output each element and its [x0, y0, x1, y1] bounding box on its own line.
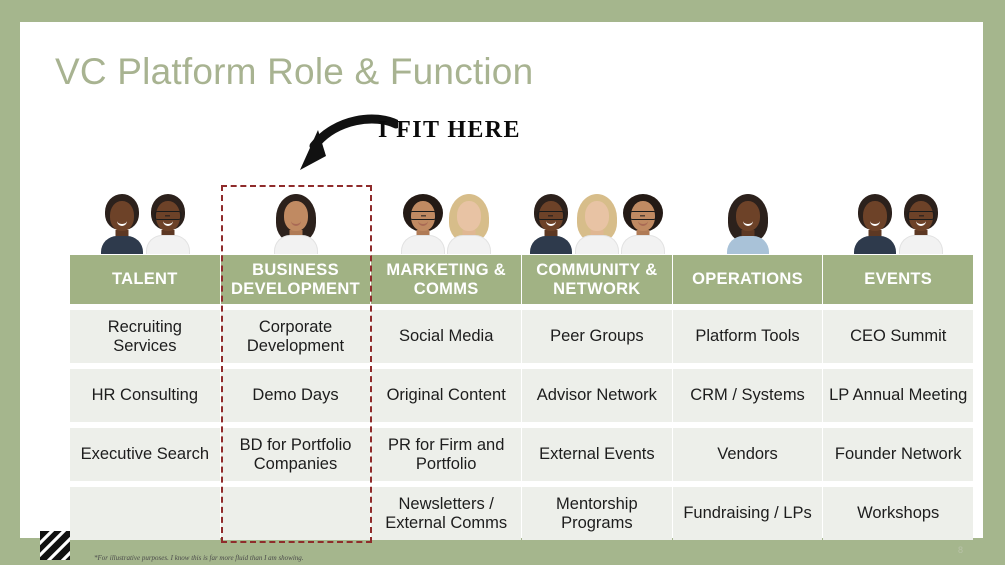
callout-label: I FIT HERE: [378, 117, 521, 144]
table-cell: PR for Firm and Portfolio: [371, 428, 521, 481]
column-header-marketing-comms: MARKETING & COMMS: [371, 255, 521, 304]
avatar-group-marketing-comms: [371, 184, 521, 254]
avatar: [447, 192, 491, 254]
table-cell: CRM / Systems: [673, 369, 823, 422]
avatar: [146, 192, 190, 254]
column-header-operations: OPERATIONS: [673, 255, 823, 304]
avatar: [853, 192, 897, 254]
avatar-group-talent: [70, 184, 220, 254]
table-row: HR Consulting Demo Days Original Content…: [70, 369, 974, 422]
column-header-talent: TALENT: [70, 255, 220, 304]
table-cell: Vendors: [673, 428, 823, 481]
table-cell: Advisor Network: [522, 369, 672, 422]
diagonal-stripes-logo-icon: [40, 531, 70, 560]
table-cell: External Events: [522, 428, 672, 481]
table-cell: LP Annual Meeting: [823, 369, 973, 422]
avatar-group-business-development: [221, 184, 371, 254]
table-cell: Peer Groups: [522, 310, 672, 363]
table-cell: Workshops: [823, 487, 973, 540]
table-cell: [70, 487, 220, 540]
table-cell: Social Media: [371, 310, 521, 363]
avatar: [726, 192, 770, 254]
column-header-community-network: COMMUNITY & NETWORK: [522, 255, 672, 304]
avatar: [621, 192, 665, 254]
table-cell: Mentorship Programs: [522, 487, 672, 540]
avatar: [100, 192, 144, 254]
table-row: Executive Search BD for Portfolio Compan…: [70, 428, 974, 481]
table-cell: HR Consulting: [70, 369, 220, 422]
table-cell: BD for Portfolio Companies: [221, 428, 371, 481]
table-row: Recruiting Services Corporate Developmen…: [70, 310, 974, 363]
page-number: 8: [958, 545, 963, 555]
table-row: Newsletters / External Comms Mentorship …: [70, 487, 974, 540]
avatar: [529, 192, 573, 254]
table-cell: Executive Search: [70, 428, 220, 481]
slide-content-area: VC Platform Role & Function I FIT HERE: [20, 22, 983, 538]
table-cell: Demo Days: [221, 369, 371, 422]
table-cell: Fundraising / LPs: [673, 487, 823, 540]
footnote: *For illustrative purposes. I know this …: [94, 554, 304, 562]
table-cell: [221, 487, 371, 540]
page-title: VC Platform Role & Function: [55, 51, 533, 93]
table-cell: Founder Network: [823, 428, 973, 481]
avatar: [575, 192, 619, 254]
avatar-group-operations: [673, 184, 823, 254]
slide: VC Platform Role & Function I FIT HERE: [0, 0, 1005, 565]
table-cell: Corporate Development: [221, 310, 371, 363]
avatar: [274, 192, 318, 254]
avatar-group-events: [823, 184, 973, 254]
table-cell: Recruiting Services: [70, 310, 220, 363]
table-cell: Original Content: [371, 369, 521, 422]
column-header-events: EVENTS: [823, 255, 973, 304]
avatar: [401, 192, 445, 254]
platform-function-table: TALENT BUSINESS DEVELOPMENT MARKETING & …: [70, 255, 974, 546]
table-cell: Newsletters / External Comms: [371, 487, 521, 540]
avatar-group-community-network: [522, 184, 672, 254]
table-header-row: TALENT BUSINESS DEVELOPMENT MARKETING & …: [70, 255, 974, 304]
table-cell: Platform Tools: [673, 310, 823, 363]
table-cell: CEO Summit: [823, 310, 973, 363]
avatar: [899, 192, 943, 254]
avatar-strip: [70, 184, 974, 254]
column-header-business-development: BUSINESS DEVELOPMENT: [221, 255, 371, 304]
